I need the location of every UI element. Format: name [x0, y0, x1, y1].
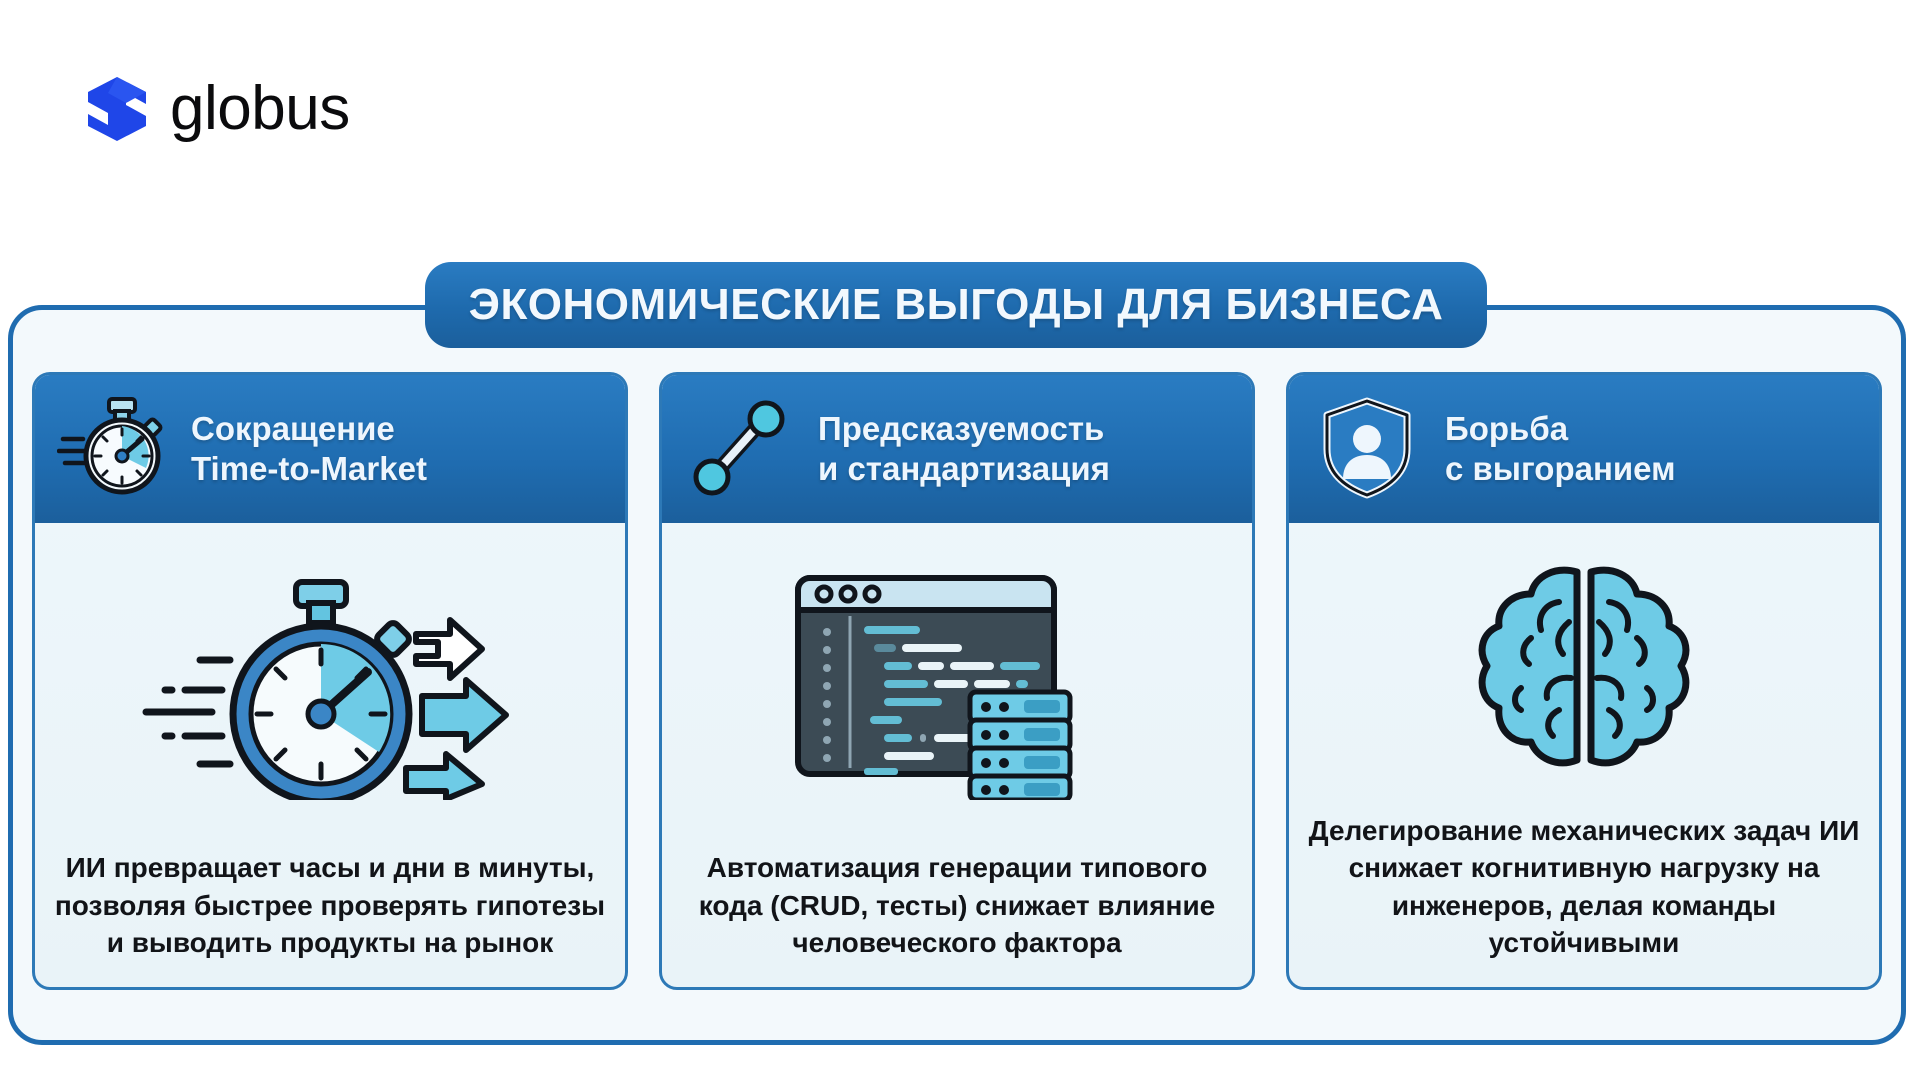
brand-wordmark: globus — [170, 78, 350, 140]
node-link-icon — [684, 393, 796, 506]
section-title-text: ЭКОНОМИЧЕСКИЕ ВЫГОДЫ ДЛЯ БИЗНЕСА — [469, 280, 1444, 330]
stopwatch-speed-icon — [57, 393, 169, 506]
card-header: Сокращение Time-to-Market — [35, 375, 625, 523]
benefit-card-burnout: Борьба с выгоранием — [1286, 372, 1882, 990]
card-header: Предсказуемость и стандартизация — [662, 375, 1252, 523]
card-description: Делегирование механических задач ИИ сниж… — [1289, 806, 1879, 987]
benefit-card-predictability: Предсказуемость и стандартизация — [659, 372, 1255, 990]
card-illustration — [35, 523, 625, 843]
card-illustration — [1289, 523, 1879, 806]
stopwatch-arrows-illustration — [130, 572, 530, 805]
card-description: Автоматизация генерации типового кода (C… — [662, 843, 1252, 987]
card-title: Борьба с выгоранием — [1445, 409, 1676, 490]
brand-logo: globus — [86, 76, 350, 142]
card-title: Предсказуемость и стандартизация — [818, 409, 1110, 490]
benefit-card-time-to-market: Сокращение Time-to-Market — [32, 372, 628, 990]
globus-hexagon-icon — [86, 76, 148, 142]
shield-person-icon — [1311, 393, 1423, 506]
benefit-cards-row: Сокращение Time-to-Market — [8, 372, 1906, 990]
card-header: Борьба с выгоранием — [1289, 375, 1879, 523]
brain-illustration — [1459, 560, 1709, 779]
card-description: ИИ превращает часы и дни в минуты, позво… — [35, 843, 625, 987]
infographic-slide: globus ЭКОНОМИЧЕСКИЕ ВЫГОДЫ ДЛЯ БИЗНЕСА — [0, 0, 1920, 1080]
code-window-servers-illustration — [792, 572, 1122, 805]
card-illustration — [662, 523, 1252, 843]
section-title-banner: ЭКОНОМИЧЕСКИЕ ВЫГОДЫ ДЛЯ БИЗНЕСА — [425, 262, 1487, 348]
card-title: Сокращение Time-to-Market — [191, 409, 427, 490]
